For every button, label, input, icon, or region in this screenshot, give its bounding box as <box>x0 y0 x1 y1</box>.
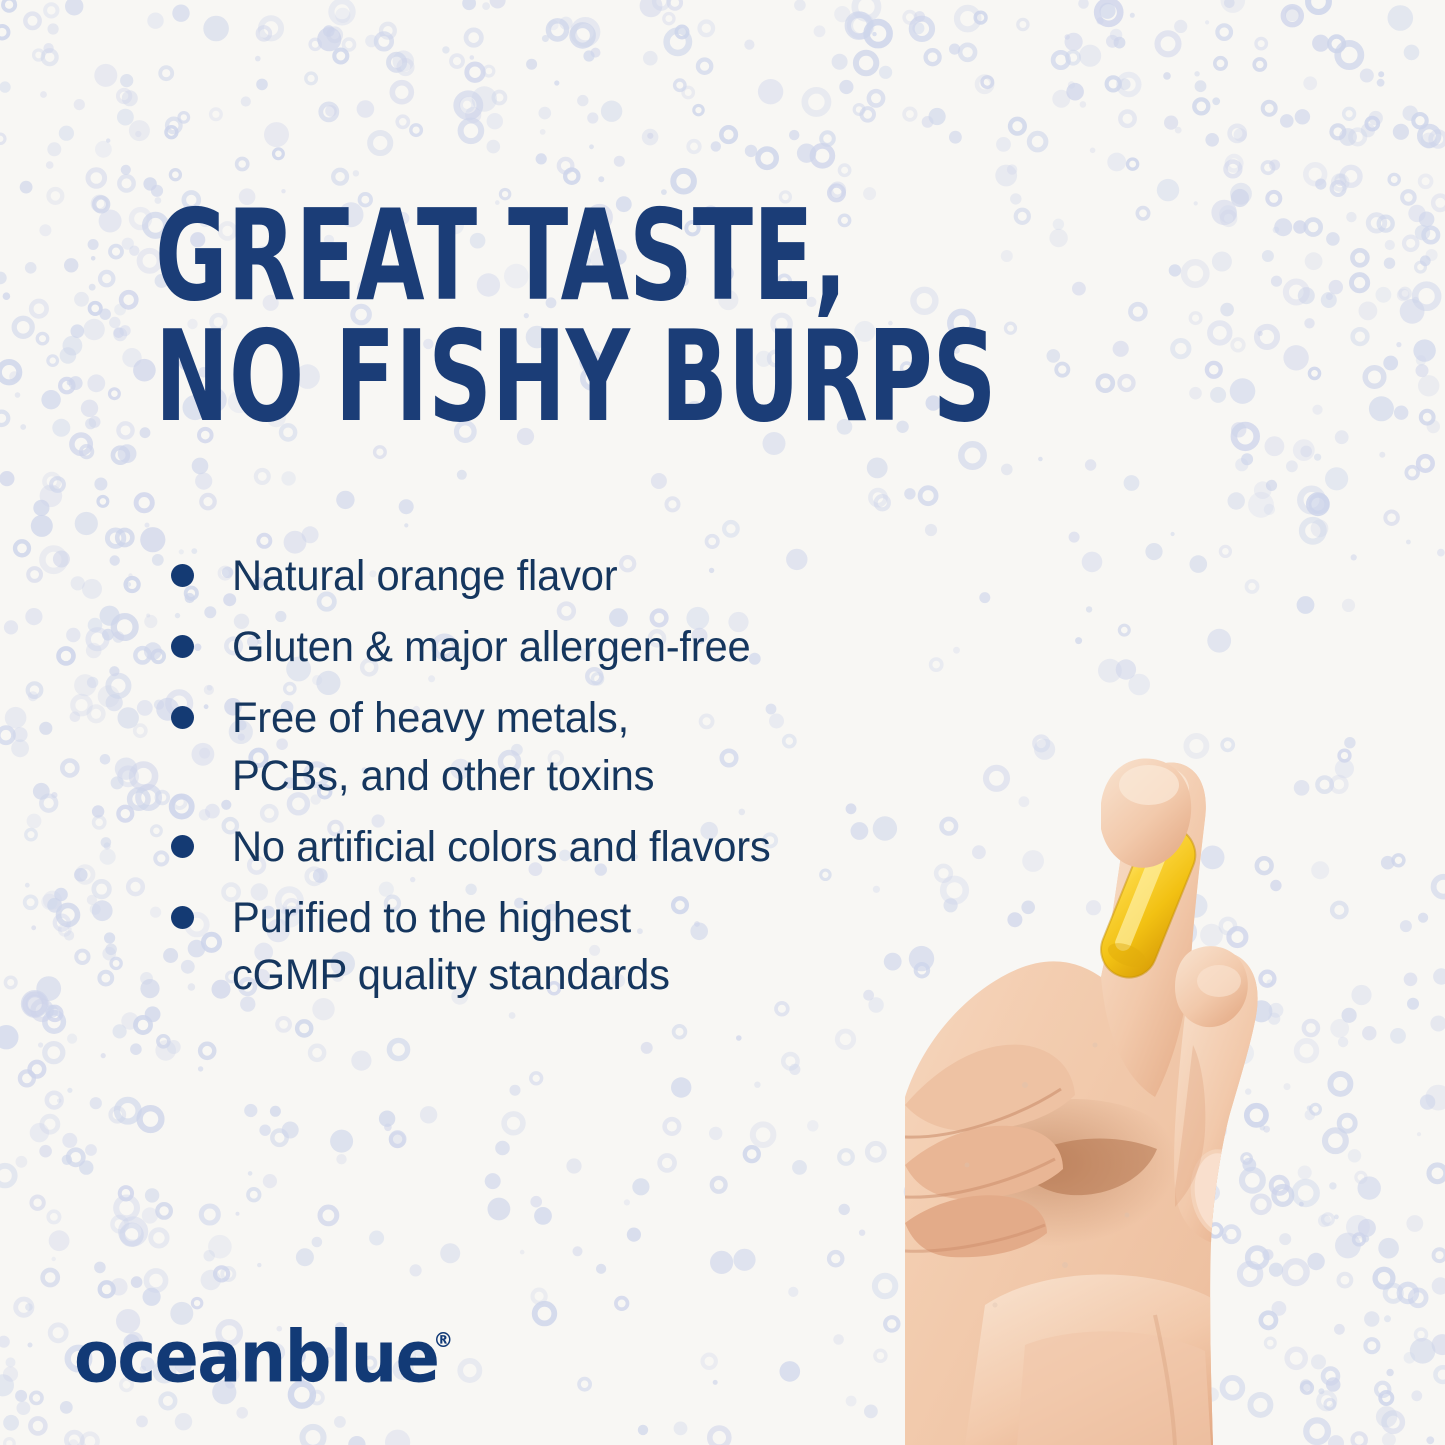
list-item: Purified to the highest cGMP quality sta… <box>168 890 998 1004</box>
headline-line-1: GREAT TASTE, <box>155 196 857 317</box>
softgel-capsule <box>1093 818 1204 985</box>
list-item: No artificial colors and flavors <box>168 819 998 876</box>
list-item-label: No artificial colors and flavors <box>232 819 975 876</box>
product-feature-panel: GREAT TASTE, NO FISHY BURPS Natural oran… <box>0 0 1445 1445</box>
list-item-label: Purified to the highest cGMP quality sta… <box>232 890 975 1004</box>
list-item: Free of heavy metals, PCBs, and other to… <box>168 690 998 804</box>
list-item-label: Natural orange flavor <box>232 548 975 605</box>
headline: GREAT TASTE, NO FISHY BURPS <box>155 196 857 438</box>
headline-line-2: NO FISHY BURPS <box>155 317 857 438</box>
bullet-dot-icon <box>171 835 194 858</box>
brand-logo-wordmark: oceanblue <box>74 1322 438 1394</box>
list-item: Gluten & major allergen-free <box>168 619 998 676</box>
bullet-dot-icon <box>171 635 194 658</box>
bullet-dot-icon <box>171 564 194 587</box>
list-item-label: Free of heavy metals, PCBs, and other to… <box>232 690 975 804</box>
bullet-dot-icon <box>171 906 194 929</box>
benefits-list: Natural orange flavor Gluten & major all… <box>168 548 998 1018</box>
bullet-dot-icon <box>171 706 194 729</box>
list-item-label: Gluten & major allergen-free <box>232 619 975 676</box>
list-item: Natural orange flavor <box>168 548 998 605</box>
brand-logo: oceanblue ® <box>74 1322 453 1386</box>
